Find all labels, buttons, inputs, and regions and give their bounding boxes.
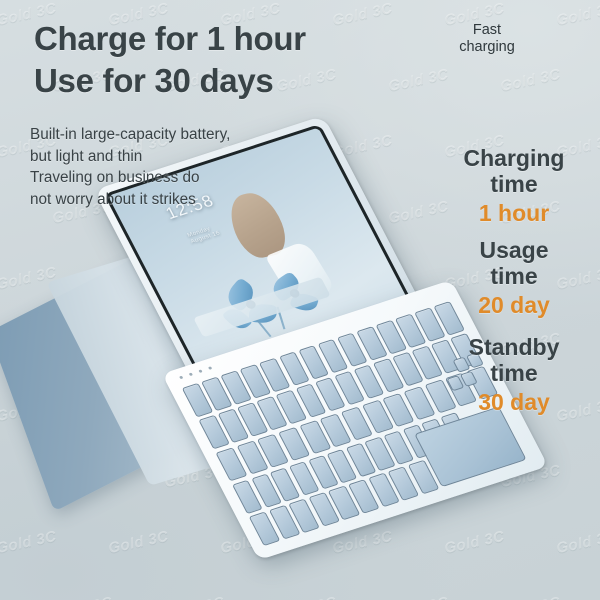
spec-value: 30 day bbox=[434, 389, 594, 415]
headline: Charge for 1 hour Use for 30 days bbox=[34, 18, 434, 102]
fast-charging-line-2: charging bbox=[441, 39, 533, 56]
watermark-text: Gold 3C bbox=[555, 528, 600, 557]
spec-charging-time: Charging time 1 hour bbox=[434, 145, 594, 226]
spec-label-line-2: time bbox=[434, 360, 594, 386]
spec-label-line-2: time bbox=[434, 171, 594, 197]
watermark-text: Gold 3C bbox=[499, 66, 562, 95]
body-copy-line-2: but light and thin bbox=[30, 146, 330, 168]
spec-usage-time: Usage time 20 day bbox=[434, 237, 594, 318]
spec-label: Charging time bbox=[434, 145, 594, 197]
fast-charging-badge: Fast charging bbox=[441, 22, 533, 56]
headline-line-1: Charge for 1 hour bbox=[34, 18, 434, 60]
watermark-text: Gold 3C bbox=[387, 594, 450, 600]
body-copy-line-3: Traveling on business do bbox=[30, 167, 330, 189]
spec-label-line-1: Charging bbox=[434, 145, 594, 171]
spec-column: Charging time 1 hour Usage time 20 day S… bbox=[434, 145, 594, 426]
spec-standby-time: Standby time 30 day bbox=[434, 334, 594, 415]
body-copy-line-4: not worry about it strikes bbox=[30, 189, 330, 211]
spec-label-line-1: Standby bbox=[434, 334, 594, 360]
spec-value: 20 day bbox=[434, 292, 594, 318]
watermark-text: Gold 3C bbox=[555, 0, 600, 29]
headline-line-2: Use for 30 days bbox=[34, 60, 434, 102]
spec-label-line-1: Usage bbox=[434, 237, 594, 263]
watermark-text: Gold 3C bbox=[51, 594, 114, 600]
fast-charging-line-1: Fast bbox=[441, 22, 533, 39]
watermark-text: Gold 3C bbox=[163, 594, 226, 600]
body-copy-line-1: Built-in large-capacity battery, bbox=[30, 124, 330, 146]
spec-label-line-2: time bbox=[434, 263, 594, 289]
watermark-text: Gold 3C bbox=[499, 594, 562, 600]
spec-value: 1 hour bbox=[434, 200, 594, 226]
product-advertisement-page: Gold 3CGold 3CGold 3CGold 3CGold 3CGold … bbox=[0, 0, 600, 600]
spec-label: Standby time bbox=[434, 334, 594, 386]
watermark-text: Gold 3C bbox=[0, 594, 2, 600]
body-copy: Built-in large-capacity battery, but lig… bbox=[30, 124, 330, 211]
watermark-text: Gold 3C bbox=[275, 594, 338, 600]
keyboard-indicator-lights bbox=[179, 366, 212, 379]
lockscreen-date: Monday August 16 bbox=[186, 224, 222, 247]
spec-label: Usage time bbox=[434, 237, 594, 289]
watermark-text: Gold 3C bbox=[0, 66, 2, 95]
